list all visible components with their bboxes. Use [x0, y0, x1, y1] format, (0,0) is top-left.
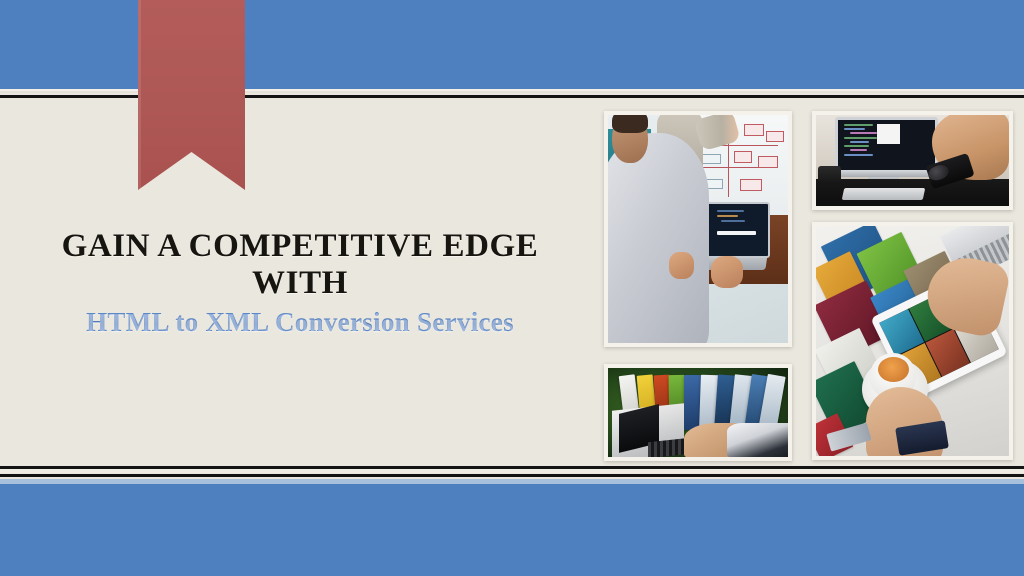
- imac-coding-desk-photo: [812, 111, 1013, 210]
- headline-line-1: GAIN A COMPETITIVE EDGE: [44, 228, 556, 265]
- bottom-rule-gap: [0, 469, 1024, 473]
- headline-block: GAIN A COMPETITIVE EDGE WITH HTML to XML…: [44, 228, 556, 338]
- webpages-flowing-laptop-photo: [604, 364, 792, 461]
- headline-subtitle: HTML to XML Conversion Services: [44, 307, 556, 338]
- tablet-digital-publishing-photo: [812, 222, 1013, 460]
- headline-line-2: WITH: [44, 265, 556, 302]
- ribbon-edge-highlight: [138, 0, 141, 190]
- ribbon-banner: [138, 0, 245, 190]
- bottom-rule-line-lower: [0, 474, 1024, 477]
- team-meeting-laptop-photo: [604, 111, 792, 347]
- presentation-slide: GAIN A COMPETITIVE EDGE WITH HTML to XML…: [0, 0, 1024, 576]
- bottom-blue-band: [0, 484, 1024, 576]
